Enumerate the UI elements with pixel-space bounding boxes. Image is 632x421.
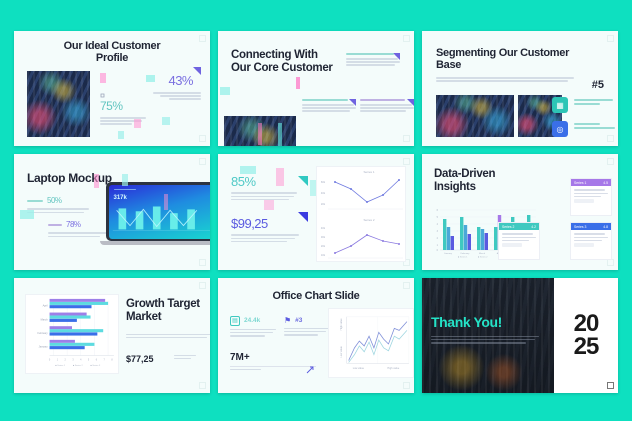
slide-7-horizontal-bar-chart: AprilMarch FebruaryJanuary 0123 bbox=[25, 294, 119, 374]
svg-text:20k: 20k bbox=[321, 202, 326, 206]
slide-8-kpi-1-value: 24.4k bbox=[244, 317, 260, 324]
slide-3-subtitle bbox=[436, 77, 574, 83]
svg-text:60k: 60k bbox=[321, 180, 326, 184]
slide-8-big-value: 7M+ bbox=[230, 352, 250, 363]
svg-text:8: 8 bbox=[111, 359, 113, 361]
laptop-lid: 317k bbox=[106, 182, 210, 241]
svg-text:20k: 20k bbox=[321, 244, 326, 248]
slide-6-cards: Series 1 4.5 Series 2 4.2 bbox=[540, 178, 612, 258]
svg-text:March: March bbox=[479, 252, 486, 255]
slide-9-year-top: 20 bbox=[574, 312, 599, 335]
svg-text:■ Series 1: ■ Series 1 bbox=[458, 256, 468, 259]
corner-mark-icon bbox=[199, 382, 206, 389]
slide-2-title-line2: Our Core Customer bbox=[231, 62, 341, 75]
slide-2-column-2 bbox=[302, 99, 356, 114]
chart-icon: ▦ bbox=[552, 97, 568, 113]
slide-grid: Our Ideal Customer Profile 75% 43% bbox=[14, 31, 618, 393]
calendar-icon: ▤ bbox=[230, 316, 240, 326]
corner-mark-icon bbox=[199, 282, 206, 289]
corner-mark-icon bbox=[403, 35, 410, 42]
slide-6-card-1-button[interactable] bbox=[574, 199, 594, 203]
slide-2-title: Connecting With Our Core Customer bbox=[231, 49, 341, 75]
slide-thumbnail-7[interactable]: AprilMarch FebruaryJanuary 0123 bbox=[14, 278, 210, 393]
slide-1-stat-2: 43% bbox=[153, 73, 201, 102]
corner-mark-icon bbox=[199, 259, 206, 266]
slide-1-stat-2-value: 43% bbox=[153, 73, 201, 88]
svg-text:0: 0 bbox=[49, 359, 51, 361]
slide-6-card-1[interactable]: Series 1 4.5 bbox=[570, 178, 612, 216]
slide-6-card-3-title: Series 3 bbox=[574, 225, 586, 229]
slide-9-thanks-title: Thank You! bbox=[431, 314, 502, 330]
svg-text:■ Series 2: ■ Series 2 bbox=[73, 364, 83, 367]
corner-mark-icon bbox=[403, 382, 410, 389]
laptop-screen: 317k bbox=[109, 185, 211, 239]
svg-text:Low value: Low value bbox=[353, 367, 365, 370]
slide-8-line-chart: High value Low value Low value High valu… bbox=[328, 308, 414, 378]
slide-thumbnail-4[interactable]: Laptop Mockup 50% 78% bbox=[14, 154, 210, 269]
svg-text:April: April bbox=[43, 304, 48, 307]
slide-5-chart-panel: Series 1 60k 40k 20k Series 2 40k 30k 20… bbox=[316, 166, 406, 262]
slide-4-title: Laptop Mockup bbox=[27, 172, 112, 185]
slide-1-title-line2: Profile bbox=[30, 52, 194, 64]
slide-5-stat-1: 85% bbox=[231, 174, 297, 202]
slide-4-stat-1-value: 50% bbox=[47, 196, 62, 205]
svg-text:0: 0 bbox=[437, 249, 439, 252]
corner-mark-icon bbox=[607, 35, 614, 42]
svg-text:5: 5 bbox=[88, 359, 90, 361]
slide-9-year: 20 25 bbox=[554, 278, 618, 393]
slide-thumbnail-8[interactable]: Office Chart Slide ▤ 24.4k ⚑ #3 7M+ bbox=[218, 278, 414, 393]
svg-text:February: February bbox=[461, 252, 471, 255]
corner-mark-icon bbox=[607, 135, 614, 142]
slide-1-title-line1: Our Ideal Customer bbox=[30, 40, 194, 52]
slide-thumbnail-3[interactable]: Segmenting Our Customer Base #5 ▦ ◎ bbox=[422, 31, 618, 146]
slide-3-item-2-label bbox=[574, 123, 618, 130]
slide-1-stat-1-copy bbox=[100, 117, 146, 125]
slide-7-price: $77,25 bbox=[126, 354, 154, 364]
slide-5-chart-2: Series 2 40k 30k 20k 10k bbox=[317, 215, 407, 263]
slide-1-stat-2-copy bbox=[153, 92, 201, 100]
slide-6-card-2-title: Series 2 bbox=[502, 225, 514, 229]
svg-text:40k: 40k bbox=[321, 226, 326, 230]
slide-3-item-1-label bbox=[574, 99, 618, 106]
slide-2-photo bbox=[224, 116, 296, 146]
slide-6-card-3-button[interactable] bbox=[574, 243, 594, 247]
svg-text:2: 2 bbox=[437, 237, 439, 240]
slide-2-column-3 bbox=[360, 99, 414, 114]
slide-3-photo-1 bbox=[436, 95, 514, 137]
slide-5-stat-2: $99,25 bbox=[231, 216, 299, 244]
slide-5-stat-1-value: 85% bbox=[231, 174, 297, 189]
corner-mark-icon bbox=[403, 282, 410, 289]
slide-6-card-1-value: 4.5 bbox=[603, 181, 608, 185]
slide-5-stat-2-value: $99,25 bbox=[231, 216, 299, 231]
svg-text:High value: High value bbox=[340, 318, 343, 330]
svg-text:4: 4 bbox=[80, 359, 82, 361]
corner-mark-icon bbox=[607, 382, 614, 389]
slide-6-card-2-value: 4.2 bbox=[531, 225, 536, 229]
svg-text:■ Series 2: ■ Series 2 bbox=[478, 256, 488, 259]
slide-thumbnail-5[interactable]: 85% $99,25 Series 1 60k 40k 20k bbox=[218, 154, 414, 269]
slide-6-title: Data-Driven Insights bbox=[434, 168, 522, 194]
svg-text:January: January bbox=[39, 345, 49, 348]
slide-9-copy bbox=[431, 336, 539, 346]
slide-4-stat-2-value: 78% bbox=[66, 220, 81, 229]
svg-text:7: 7 bbox=[104, 359, 106, 361]
corner-mark-icon bbox=[403, 135, 410, 142]
svg-text:■ Series 1: ■ Series 1 bbox=[55, 364, 65, 367]
svg-text:Series 1: Series 1 bbox=[363, 170, 374, 174]
corner-mark-icon bbox=[403, 158, 410, 165]
svg-text:3: 3 bbox=[437, 230, 439, 233]
svg-text:1: 1 bbox=[57, 359, 59, 361]
corner-mark-icon bbox=[607, 158, 614, 165]
slide-8-kpi-2: ⚑ #3 bbox=[284, 316, 330, 338]
arrow-up-right-icon bbox=[306, 366, 314, 374]
slide-7-subtitle bbox=[126, 334, 210, 340]
svg-text:6: 6 bbox=[96, 359, 98, 361]
svg-text:3: 3 bbox=[72, 359, 74, 361]
slide-thumbnail-9[interactable]: Thank You! 20 25 bbox=[422, 278, 618, 393]
laptop-mockup: 317k bbox=[106, 182, 210, 245]
slide-2-title-line1: Connecting With bbox=[231, 49, 341, 62]
svg-text:2: 2 bbox=[65, 359, 67, 361]
slide-thumbnail-2[interactable]: Connecting With Our Core Customer bbox=[218, 31, 414, 146]
slide-4-stat-2: 78% bbox=[48, 220, 108, 238]
slide-3-title: Segmenting Our Customer Base bbox=[436, 47, 594, 72]
slide-2-column-1 bbox=[346, 53, 400, 68]
svg-text:Low value: Low value bbox=[340, 345, 343, 357]
slide-6-title-line1: Data-Driven bbox=[434, 168, 522, 181]
svg-text:6: 6 bbox=[437, 209, 439, 212]
svg-text:40k: 40k bbox=[321, 191, 326, 195]
svg-text:High value: High value bbox=[387, 367, 399, 370]
laptop-bar-chart bbox=[109, 200, 211, 234]
slide-6-card-1-title: Series 1 bbox=[574, 181, 586, 185]
slide-thumbnail-1[interactable]: Our Ideal Customer Profile 75% 43% bbox=[14, 31, 210, 146]
slide-3-title-line1: Segmenting Our Customer bbox=[436, 47, 594, 59]
slide-8-kpi-2-value: #3 bbox=[295, 317, 302, 324]
slide-5-chart-1: Series 1 60k 40k 20k bbox=[317, 167, 407, 215]
corner-mark-icon bbox=[199, 135, 206, 142]
triangle-icon bbox=[193, 67, 201, 75]
slide-6-card-3-value: 4.8 bbox=[603, 225, 608, 229]
slide-8-kpi-1: ▤ 24.4k bbox=[230, 316, 276, 339]
slide-1-photo bbox=[27, 71, 90, 137]
flag-icon: ⚑ bbox=[284, 316, 291, 325]
triangle-icon bbox=[298, 212, 308, 222]
slide-3-title-line2: Base bbox=[436, 59, 594, 71]
svg-text:30k: 30k bbox=[321, 235, 326, 239]
svg-text:February: February bbox=[38, 332, 49, 335]
svg-text:January: January bbox=[444, 252, 453, 255]
slide-1-title: Our Ideal Customer Profile bbox=[30, 40, 194, 65]
slide-thumbnail-6[interactable]: Data-Driven Insights 012 3456 bbox=[422, 154, 618, 269]
svg-text:1: 1 bbox=[437, 244, 439, 247]
corner-mark-icon bbox=[199, 158, 206, 165]
slide-8-big-caption bbox=[230, 366, 316, 372]
slide-4-stat-1: 50% bbox=[27, 196, 89, 214]
target-icon: ◎ bbox=[552, 121, 568, 137]
slide-1-stat-1-value: 75% bbox=[100, 99, 146, 113]
slide-3-number-badge: #5 bbox=[592, 79, 604, 91]
svg-text:4: 4 bbox=[437, 223, 439, 226]
svg-text:Series 2: Series 2 bbox=[363, 218, 374, 222]
slide-9-year-bottom: 25 bbox=[574, 335, 599, 358]
slide-7-title: Growth Target Market bbox=[126, 298, 210, 324]
slide-7-price-caption bbox=[174, 355, 202, 361]
svg-text:March: March bbox=[41, 318, 49, 321]
laptop-base bbox=[100, 241, 210, 245]
slide-6-card-2-button[interactable] bbox=[502, 243, 522, 247]
triangle-icon bbox=[298, 176, 308, 186]
slide-6-card-3[interactable]: Series 3 4.8 bbox=[570, 222, 612, 260]
slide-7-title-line1: Growth Target bbox=[126, 298, 210, 311]
slide-7-title-line2: Market bbox=[126, 311, 210, 324]
slide-8-title: Office Chart Slide bbox=[218, 290, 414, 302]
svg-text:10k: 10k bbox=[321, 253, 326, 257]
slide-6-card-2[interactable]: Series 2 4.2 bbox=[498, 222, 540, 260]
slide-1-stat-1: 75% bbox=[100, 93, 146, 127]
corner-mark-icon bbox=[199, 35, 206, 42]
slide-6-title-line2: Insights bbox=[434, 181, 522, 194]
svg-text:■ Series 3: ■ Series 3 bbox=[91, 364, 101, 367]
svg-text:5: 5 bbox=[437, 216, 439, 219]
